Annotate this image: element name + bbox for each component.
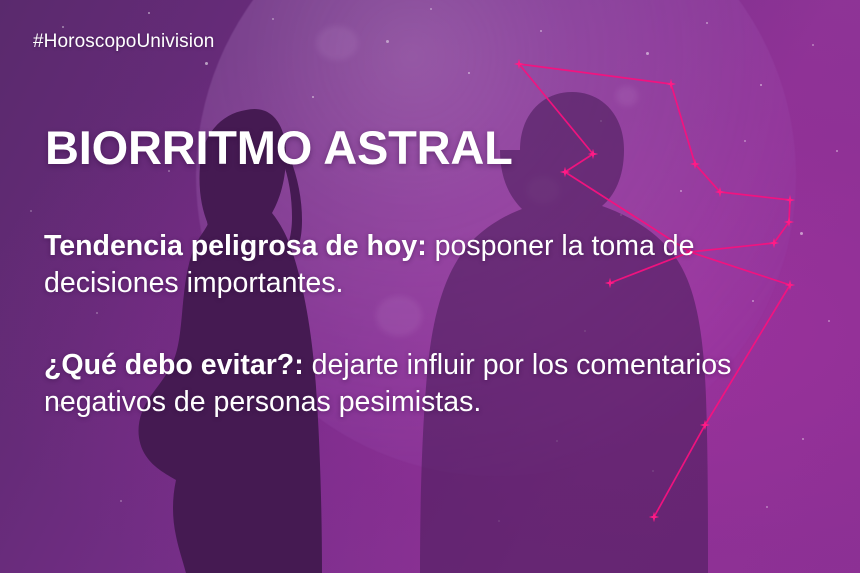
constellation-star	[700, 420, 710, 430]
constellation-line	[720, 192, 790, 200]
constellation-line	[671, 84, 695, 164]
constellation-star	[785, 195, 795, 205]
paragraph-lead: Tendencia peligrosa de hoy:	[44, 230, 427, 262]
constellation-line	[654, 425, 705, 517]
constellation-line	[519, 64, 593, 154]
constellation-line	[519, 64, 671, 84]
paragraph-lead: ¿Qué debo evitar?:	[44, 349, 304, 381]
paragraph-evitar: ¿Qué debo evitar?: dejarte influir por l…	[44, 347, 784, 421]
constellation-star	[560, 167, 570, 177]
page-title: BIORRITMO ASTRAL	[45, 124, 513, 171]
constellation-line	[565, 154, 593, 172]
paragraph-tendencia: Tendencia peligrosa de hoy: posponer la …	[44, 228, 784, 302]
constellation-star	[785, 280, 795, 290]
constellation-line	[695, 164, 720, 192]
hashtag-label: #HoroscopoUnivision	[33, 31, 214, 53]
horoscope-card: #HoroscopoUnivision BIORRITMO ASTRAL Ten…	[0, 0, 860, 573]
constellation-star	[666, 79, 676, 89]
constellation-star	[649, 512, 659, 522]
